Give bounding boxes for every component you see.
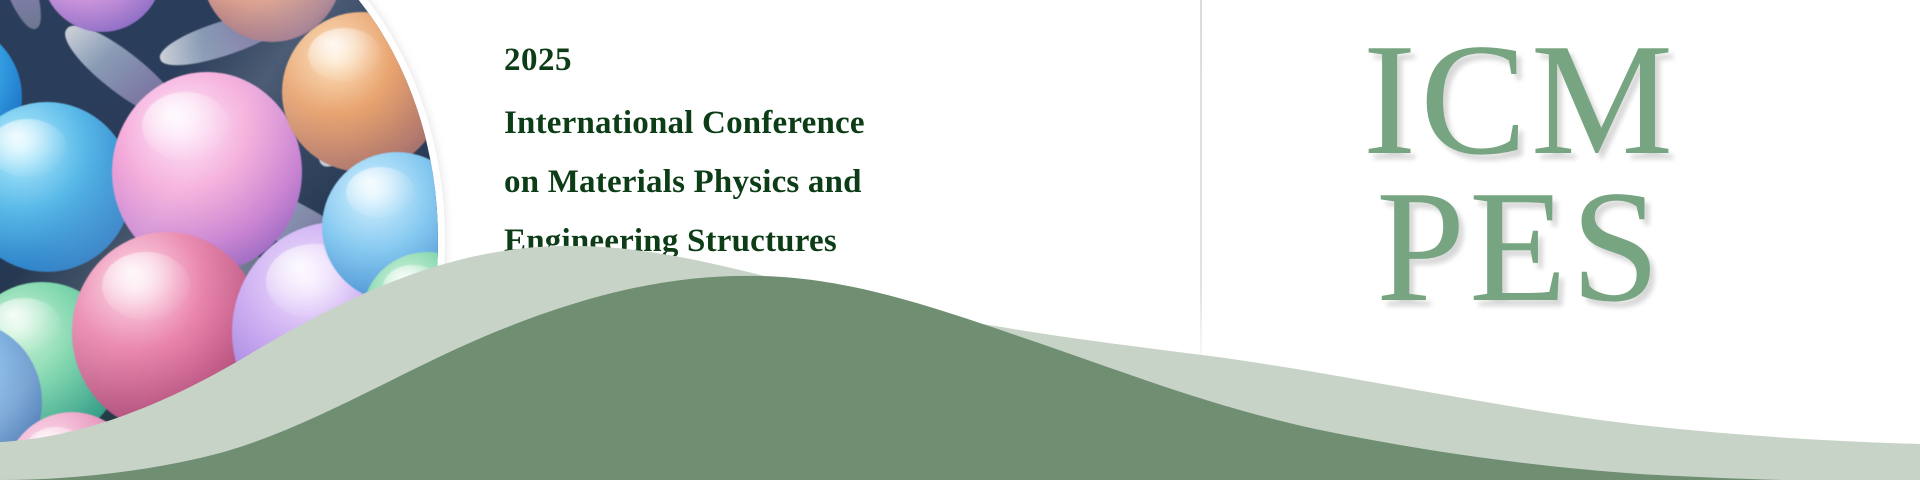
molecule-sphere xyxy=(282,12,438,172)
decorative-waves xyxy=(0,230,1920,480)
molecule-bond xyxy=(0,0,50,34)
conference-title-line-1: International Conference xyxy=(504,107,1144,140)
conference-year: 2025 xyxy=(504,44,1144,77)
conference-title-block: 2025 International Conference on Materia… xyxy=(504,44,1144,258)
logo-line-icm: ICM xyxy=(1135,26,1905,173)
molecule-sphere xyxy=(42,0,162,32)
conference-title-line-2: on Materials Physics and xyxy=(504,166,1144,199)
conference-banner: 2025 International Conference on Materia… xyxy=(0,0,1920,480)
